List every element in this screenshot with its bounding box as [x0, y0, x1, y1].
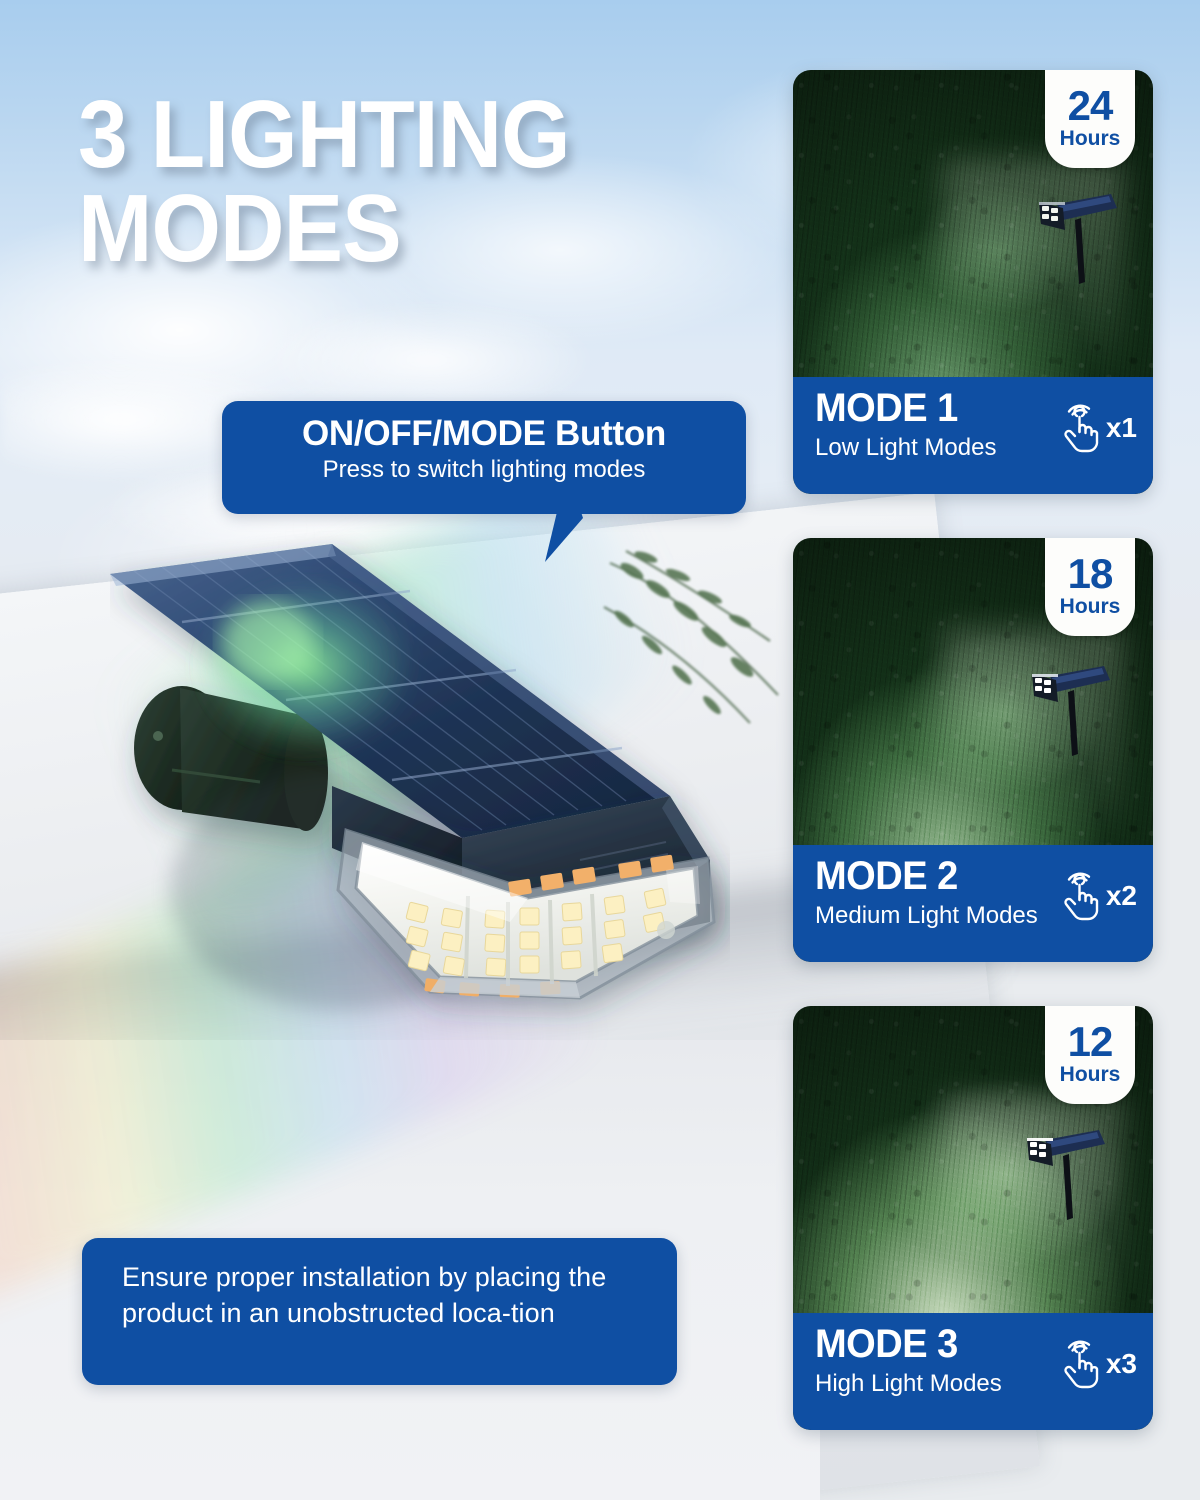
callout-tail-icon [543, 512, 583, 564]
hours-badge: 24 Hours [1045, 70, 1135, 168]
tap-hand-icon [1056, 1339, 1102, 1389]
callout-title: ON/OFF/MODE Button [222, 414, 746, 453]
callout-subtitle: Press to switch lighting modes [222, 456, 746, 485]
mode-card[interactable]: 12 Hours MODE 3 High Light Modes x3 [793, 1006, 1153, 1430]
hours-unit: Hours [1060, 127, 1121, 151]
installation-note-callout: Ensure proper installation by placing th… [82, 1238, 677, 1385]
tap-indicator: x1 [1056, 403, 1137, 453]
mode-label-strip: MODE 3 High Light Modes x3 [793, 1313, 1153, 1430]
mode-label-strip: MODE 2 Medium Light Modes x2 [793, 845, 1153, 962]
tap-count: x1 [1106, 414, 1137, 442]
mini-solar-lamp-icon [1026, 650, 1110, 762]
page-title-line-2: MODES [78, 182, 673, 276]
tap-indicator: x2 [1056, 871, 1137, 921]
solar-wall-light-product-image [110, 530, 730, 1060]
mini-solar-lamp-icon [1033, 178, 1117, 290]
mode-card[interactable]: 24 Hours MODE 1 Low Light Modes x1 [793, 70, 1153, 494]
installation-note-text: Ensure proper installation by placing th… [122, 1260, 647, 1331]
hours-badge: 18 Hours [1045, 538, 1135, 636]
hours-unit: Hours [1060, 595, 1121, 619]
hours-badge: 12 Hours [1045, 1006, 1135, 1104]
hours-unit: Hours [1060, 1063, 1121, 1087]
onoff-mode-button-callout: ON/OFF/MODE Button Press to switch light… [222, 401, 746, 514]
tap-count: x3 [1106, 1350, 1137, 1378]
hours-value: 12 [1068, 1023, 1113, 1062]
tap-hand-icon [1056, 403, 1102, 453]
hours-value: 24 [1068, 87, 1113, 126]
tap-hand-icon [1056, 871, 1102, 921]
mode-label-strip: MODE 1 Low Light Modes x1 [793, 377, 1153, 494]
mini-solar-lamp-icon [1021, 1114, 1105, 1226]
tap-indicator: x3 [1056, 1339, 1137, 1389]
page-title: 3 LIGHTING MODES [78, 88, 673, 276]
hours-value: 18 [1068, 555, 1113, 594]
mode-card[interactable]: 18 Hours MODE 2 Medium Light Modes x2 [793, 538, 1153, 962]
page-title-line-1: 3 LIGHTING [78, 81, 570, 188]
tap-count: x2 [1106, 882, 1137, 910]
